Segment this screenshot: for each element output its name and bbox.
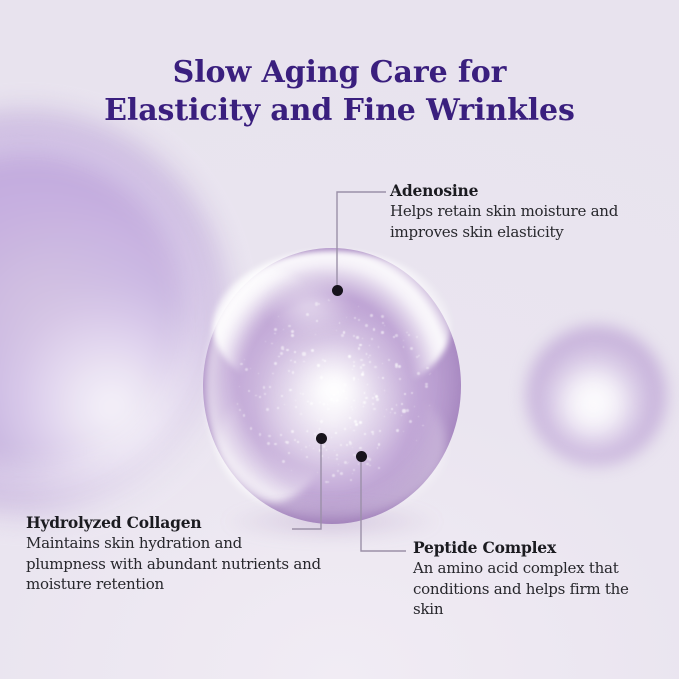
marker-dot-collagen bbox=[316, 433, 327, 444]
callout-hydrolyzed-collagen-heading: Hydrolyzed Collagen bbox=[26, 513, 326, 532]
callout-peptide-complex-heading: Peptide Complex bbox=[413, 538, 643, 557]
callout-peptide-complex-body: An amino acid complex that conditions an… bbox=[413, 558, 643, 620]
callout-adenosine: Adenosine Helps retain skin moisture and… bbox=[390, 181, 640, 242]
callout-adenosine-heading: Adenosine bbox=[390, 181, 640, 200]
page-title: Slow Aging Care for Elasticity and Fine … bbox=[0, 54, 679, 130]
marker-dot-adenosine bbox=[332, 285, 343, 296]
marker-dot-peptide bbox=[356, 451, 367, 462]
callout-peptide-complex: Peptide Complex An amino acid complex th… bbox=[413, 538, 643, 620]
page-title-line-1: Slow Aging Care for bbox=[173, 55, 507, 90]
sphere-rim-highlight-bottom bbox=[218, 369, 445, 518]
ingredient-infographic: Slow Aging Care for Elasticity and Fine … bbox=[0, 0, 679, 679]
callout-adenosine-body: Helps retain skin moisture and improves … bbox=[390, 201, 640, 242]
callout-hydrolyzed-collagen-body: Maintains skin hydration and plumpness w… bbox=[26, 533, 326, 595]
callout-hydrolyzed-collagen: Hydrolyzed Collagen Maintains skin hydra… bbox=[26, 513, 326, 595]
blurred-sphere-right-graphic bbox=[527, 326, 666, 465]
page-title-line-2: Elasticity and Fine Wrinkles bbox=[0, 92, 679, 130]
